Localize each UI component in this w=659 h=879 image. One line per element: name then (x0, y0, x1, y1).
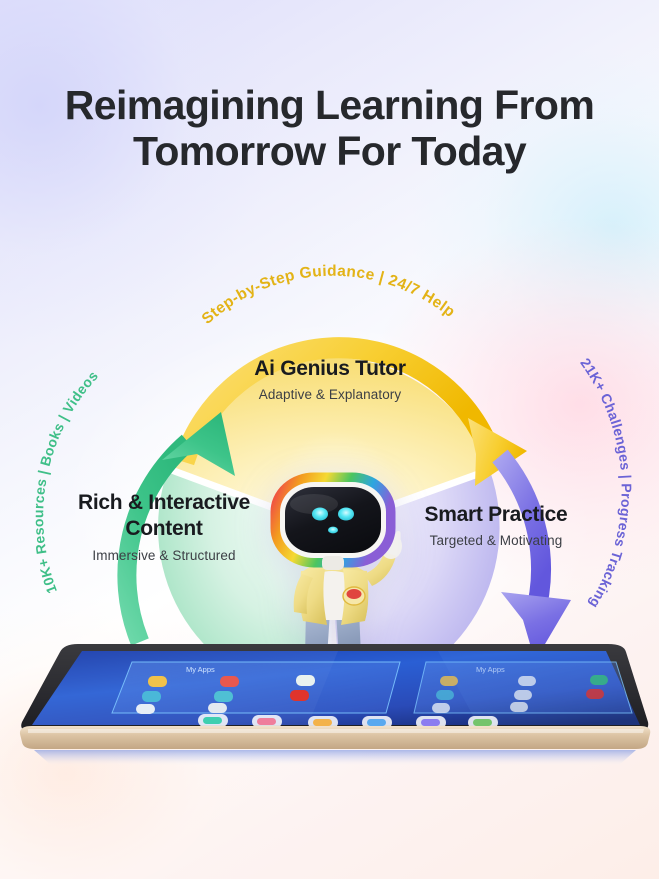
segment-title-tutor: Ai Genius Tutor (180, 356, 480, 382)
segment-title-content-line1: Rich & Interactive (42, 490, 286, 516)
segment-title-practice: Smart Practice (386, 502, 606, 528)
poster-canvas: Reimagining Learning From Tomorrow For T… (0, 0, 659, 879)
segment-subtitle-content: Immersive & Structured (42, 548, 286, 563)
segment-title-content-line2: Content (42, 516, 286, 542)
mascot-badge-inner (347, 589, 362, 599)
ai-robot-mascot (258, 460, 408, 660)
tablet-reflection (34, 750, 636, 766)
segment-subtitle-tutor: Adaptive & Explanatory (180, 387, 480, 402)
page-title: Reimagining Learning From Tomorrow For T… (0, 83, 659, 175)
segment-label-tutor: Ai Genius Tutor Adaptive & Explanatory (180, 356, 480, 402)
arc-label-top: Step-by-Step Guidance | 24/7 Help (199, 263, 459, 328)
segment-subtitle-practice: Targeted & Motivating (386, 533, 606, 548)
apps-panel-left: My Apps (112, 662, 400, 713)
mascot-mouth (328, 527, 338, 534)
apps-panel-title-right: My Apps (476, 665, 505, 674)
arc-label-right: 21K+ Challenges | Progress Tracking (577, 355, 634, 611)
arrow-practice (500, 456, 571, 661)
segment-label-content: Rich & Interactive Content Immersive & S… (42, 490, 286, 563)
mascot-eye-left (312, 508, 328, 521)
tablet-edge-highlight (28, 729, 644, 733)
mascot-neck (322, 556, 344, 570)
mascot-eye-right (338, 508, 354, 521)
apps-panel-title: My Apps (186, 665, 215, 674)
segment-label-practice: Smart Practice Targeted & Motivating (386, 502, 606, 548)
tablet-device: My Apps My Apps (8, 636, 651, 766)
